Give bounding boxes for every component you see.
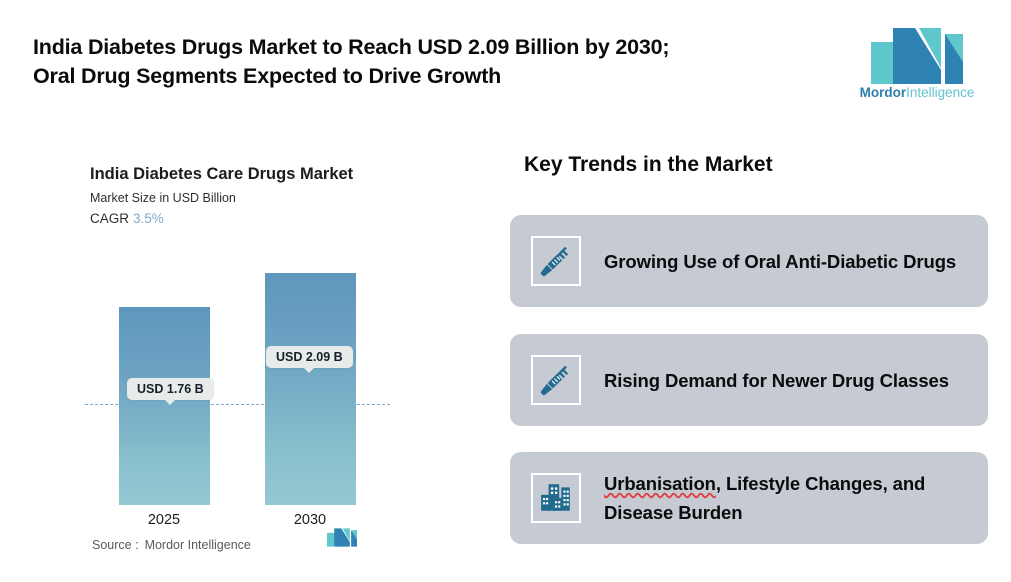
trend-card-text: Urbanisation, Lifestyle Changes, and Dis… bbox=[604, 469, 974, 527]
cagr-value: 3.5% bbox=[133, 211, 164, 226]
logo-word-mordor: Mordor bbox=[860, 85, 907, 100]
syringe-icon bbox=[539, 363, 573, 397]
key-trends-heading: Key Trends in the Market bbox=[524, 153, 773, 177]
bar-value-label-2030: USD 2.09 B bbox=[266, 346, 353, 368]
key-trends-panel: Key Trends in the Market Growing Use of … bbox=[510, 145, 988, 555]
trend-card-urbanisation-lifestyle[interactable]: Urbanisation, Lifestyle Changes, and Dis… bbox=[510, 452, 988, 544]
chart-subtitle: Market Size in USD Billion bbox=[90, 191, 236, 205]
logo-word-intelligence: Intelligence bbox=[906, 85, 974, 100]
trend-card-oral-anti-diabetic-drugs[interactable]: Growing Use of Oral Anti-Diabetic Drugs bbox=[510, 215, 988, 307]
market-size-chart: India Diabetes Care Drugs Market Market … bbox=[0, 150, 470, 570]
trend-icon-box bbox=[531, 355, 581, 405]
source-value: Mordor Intelligence bbox=[145, 538, 251, 552]
source-label: Source : bbox=[92, 538, 139, 552]
page-title: India Diabetes Drugs Market to Reach USD… bbox=[33, 33, 823, 91]
chart-source: Source :Mordor Intelligence bbox=[92, 538, 251, 552]
trend-icon-box bbox=[531, 473, 581, 523]
x-axis-tick-2030: 2030 bbox=[250, 512, 370, 528]
x-axis-tick-2025: 2025 bbox=[104, 512, 224, 528]
misspelled-word: Urbanisation bbox=[604, 473, 716, 494]
trend-icon-box bbox=[531, 236, 581, 286]
chart-cagr: CAGR3.5% bbox=[90, 211, 164, 226]
chart-title: India Diabetes Care Drugs Market bbox=[90, 165, 353, 184]
page-title-line-2: Oral Drug Segments Expected to Drive Gro… bbox=[33, 62, 823, 91]
syringe-icon bbox=[539, 244, 573, 278]
mordor-logo-mark bbox=[871, 28, 963, 84]
mordor-intelligence-logo: MordorIntelligence bbox=[858, 28, 976, 100]
trend-card-newer-drug-classes[interactable]: Rising Demand for Newer Drug Classes bbox=[510, 334, 988, 426]
bar-2025 bbox=[119, 307, 210, 505]
chart-plot-area: USD 1.76 B USD 2.09 B bbox=[0, 245, 470, 505]
bar-value-label-2025: USD 1.76 B bbox=[127, 378, 214, 400]
trend-card-text: Rising Demand for Newer Drug Classes bbox=[604, 366, 974, 395]
page-title-line-1: India Diabetes Drugs Market to Reach USD… bbox=[33, 33, 823, 62]
mordor-logo-wordmark: MordorIntelligence bbox=[858, 86, 976, 100]
page-header: India Diabetes Drugs Market to Reach USD… bbox=[0, 0, 1011, 120]
trend-card-text: Growing Use of Oral Anti-Diabetic Drugs bbox=[604, 247, 974, 276]
bar-2030 bbox=[265, 273, 356, 505]
cagr-label: CAGR bbox=[90, 211, 129, 226]
mordor-logo-mark-small bbox=[327, 528, 357, 547]
buildings-icon bbox=[539, 481, 573, 515]
